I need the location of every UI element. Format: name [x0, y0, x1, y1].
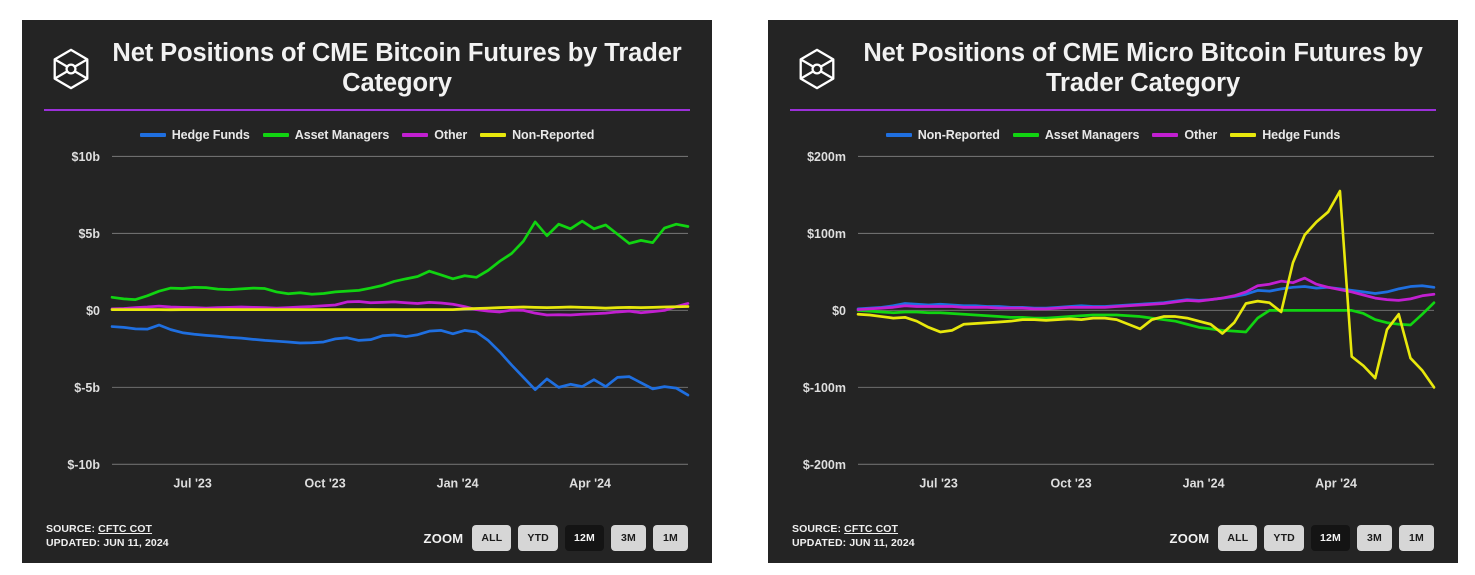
panel-footer: SOURCE: CFTC COT UPDATED: JUN 11, 2024 Z…: [786, 513, 1440, 553]
source-link[interactable]: CFTC COT: [98, 523, 152, 535]
zoom-button-ytd[interactable]: YTD: [1264, 525, 1304, 551]
zoom-button-12m[interactable]: 12M: [1311, 525, 1350, 551]
legend-label: Hedge Funds: [172, 128, 250, 142]
zoom-button-3m[interactable]: 3M: [1357, 525, 1392, 551]
zoom-button-12m[interactable]: 12M: [565, 525, 604, 551]
y-axis-tick-label: $-10b: [67, 457, 100, 472]
legend-label: Asset Managers: [1045, 128, 1139, 142]
source-info: SOURCE: CFTC COT UPDATED: JUN 11, 2024: [792, 523, 915, 551]
zoom-controls: ZOOM ALL YTD 12M 3M 1M: [1170, 525, 1434, 551]
y-axis-tick-label: $-200m: [803, 457, 846, 472]
zoom-controls: ZOOM ALL YTD 12M 3M 1M: [424, 525, 688, 551]
y-axis-tick-label: $-100m: [803, 380, 846, 395]
legend-item-other[interactable]: Other: [402, 128, 467, 142]
source-line: SOURCE: CFTC COT: [792, 523, 915, 537]
legend-swatch-icon: [1013, 133, 1039, 137]
zoom-button-1m[interactable]: 1M: [1399, 525, 1434, 551]
y-axis-tick-label: $200m: [807, 149, 846, 164]
updated-label: UPDATED:: [46, 537, 100, 549]
title-divider: [44, 109, 690, 111]
updated-label: UPDATED:: [792, 537, 846, 549]
legend-swatch-icon: [886, 133, 912, 137]
legend-label: Non-Reported: [512, 128, 594, 142]
x-axis-tick-label: Jan '24: [437, 475, 480, 490]
panel-footer: SOURCE: CFTC COT UPDATED: JUN 11, 2024 Z…: [40, 513, 694, 553]
legend-item-hedge-funds[interactable]: Hedge Funds: [140, 128, 250, 142]
legend-swatch-icon: [402, 133, 428, 137]
y-axis-tick-label: $-5b: [74, 380, 100, 395]
chart-plot-area[interactable]: $10b$5b$0$-5b$-10bJul '23Oct '23Jan '24A…: [40, 148, 694, 513]
zoom-button-all[interactable]: ALL: [1218, 525, 1257, 551]
cube-hexagon-logo-icon: [48, 46, 94, 92]
source-line: SOURCE: CFTC COT: [46, 523, 169, 537]
legend-label: Non-Reported: [918, 128, 1000, 142]
legend-label: Hedge Funds: [1262, 128, 1340, 142]
source-info: SOURCE: CFTC COT UPDATED: JUN 11, 2024: [46, 523, 169, 551]
legend-swatch-icon: [140, 133, 166, 137]
legend-item-hedge-funds[interactable]: Hedge Funds: [1230, 128, 1340, 142]
zoom-label: ZOOM: [1170, 531, 1210, 546]
legend-item-non-reported[interactable]: Non-Reported: [480, 128, 594, 142]
source-link[interactable]: CFTC COT: [844, 523, 898, 535]
series-line-asset-managers: [112, 221, 688, 300]
chart-legend: Hedge Funds Asset Managers Other Non-Rep…: [40, 128, 694, 142]
source-prefix: SOURCE:: [792, 523, 841, 535]
zoom-button-1m[interactable]: 1M: [653, 525, 688, 551]
legend-item-non-reported[interactable]: Non-Reported: [886, 128, 1000, 142]
chart-plot-area[interactable]: $200m$100m$0$-100m$-200mJul '23Oct '23Ja…: [786, 148, 1440, 513]
legend-label: Asset Managers: [295, 128, 389, 142]
x-axis-tick-label: Apr '24: [569, 475, 612, 490]
updated-line: UPDATED: JUN 11, 2024: [46, 537, 169, 551]
zoom-button-ytd[interactable]: YTD: [518, 525, 558, 551]
source-prefix: SOURCE:: [46, 523, 95, 535]
legend-item-asset-managers[interactable]: Asset Managers: [263, 128, 389, 142]
legend-swatch-icon: [480, 133, 506, 137]
y-axis-tick-label: $0: [86, 303, 100, 318]
legend-swatch-icon: [263, 133, 289, 137]
y-axis-tick-label: $5b: [78, 226, 100, 241]
panel-header: Net Positions of CME Micro Bitcoin Futur…: [786, 34, 1440, 100]
series-line-hedge-funds: [858, 191, 1434, 387]
cube-hexagon-logo-icon: [794, 46, 840, 92]
x-axis-tick-label: Jul '23: [173, 475, 211, 490]
panel-header: Net Positions of CME Bitcoin Futures by …: [40, 34, 694, 100]
x-axis-tick-label: Apr '24: [1315, 475, 1358, 490]
y-axis-tick-label: $10b: [72, 149, 101, 164]
updated-line: UPDATED: JUN 11, 2024: [792, 537, 915, 551]
zoom-button-all[interactable]: ALL: [472, 525, 511, 551]
zoom-label: ZOOM: [424, 531, 464, 546]
dashboard-stage: Net Positions of CME Bitcoin Futures by …: [0, 0, 1475, 575]
x-axis-tick-label: Jan '24: [1183, 475, 1226, 490]
zoom-button-3m[interactable]: 3M: [611, 525, 646, 551]
x-axis-tick-label: Oct '23: [305, 475, 346, 490]
chart-legend: Non-Reported Asset Managers Other Hedge …: [786, 128, 1440, 142]
legend-item-asset-managers[interactable]: Asset Managers: [1013, 128, 1139, 142]
page-title: Net Positions of CME Bitcoin Futures by …: [108, 39, 686, 98]
legend-swatch-icon: [1230, 133, 1256, 137]
chart-panel-bitcoin-futures: Net Positions of CME Bitcoin Futures by …: [22, 20, 712, 563]
x-axis-tick-label: Oct '23: [1051, 475, 1092, 490]
updated-value: JUN 11, 2024: [849, 537, 914, 549]
legend-item-other[interactable]: Other: [1152, 128, 1217, 142]
y-axis-tick-label: $100m: [807, 226, 846, 241]
page-title: Net Positions of CME Micro Bitcoin Futur…: [854, 39, 1432, 98]
series-line-hedge-funds: [112, 325, 688, 395]
updated-value: JUN 11, 2024: [103, 537, 168, 549]
y-axis-tick-label: $0: [832, 303, 846, 318]
legend-label: Other: [434, 128, 467, 142]
legend-swatch-icon: [1152, 133, 1178, 137]
title-divider: [790, 109, 1436, 111]
x-axis-tick-label: Jul '23: [919, 475, 957, 490]
chart-panel-micro-bitcoin-futures: Net Positions of CME Micro Bitcoin Futur…: [768, 20, 1458, 563]
legend-label: Other: [1184, 128, 1217, 142]
